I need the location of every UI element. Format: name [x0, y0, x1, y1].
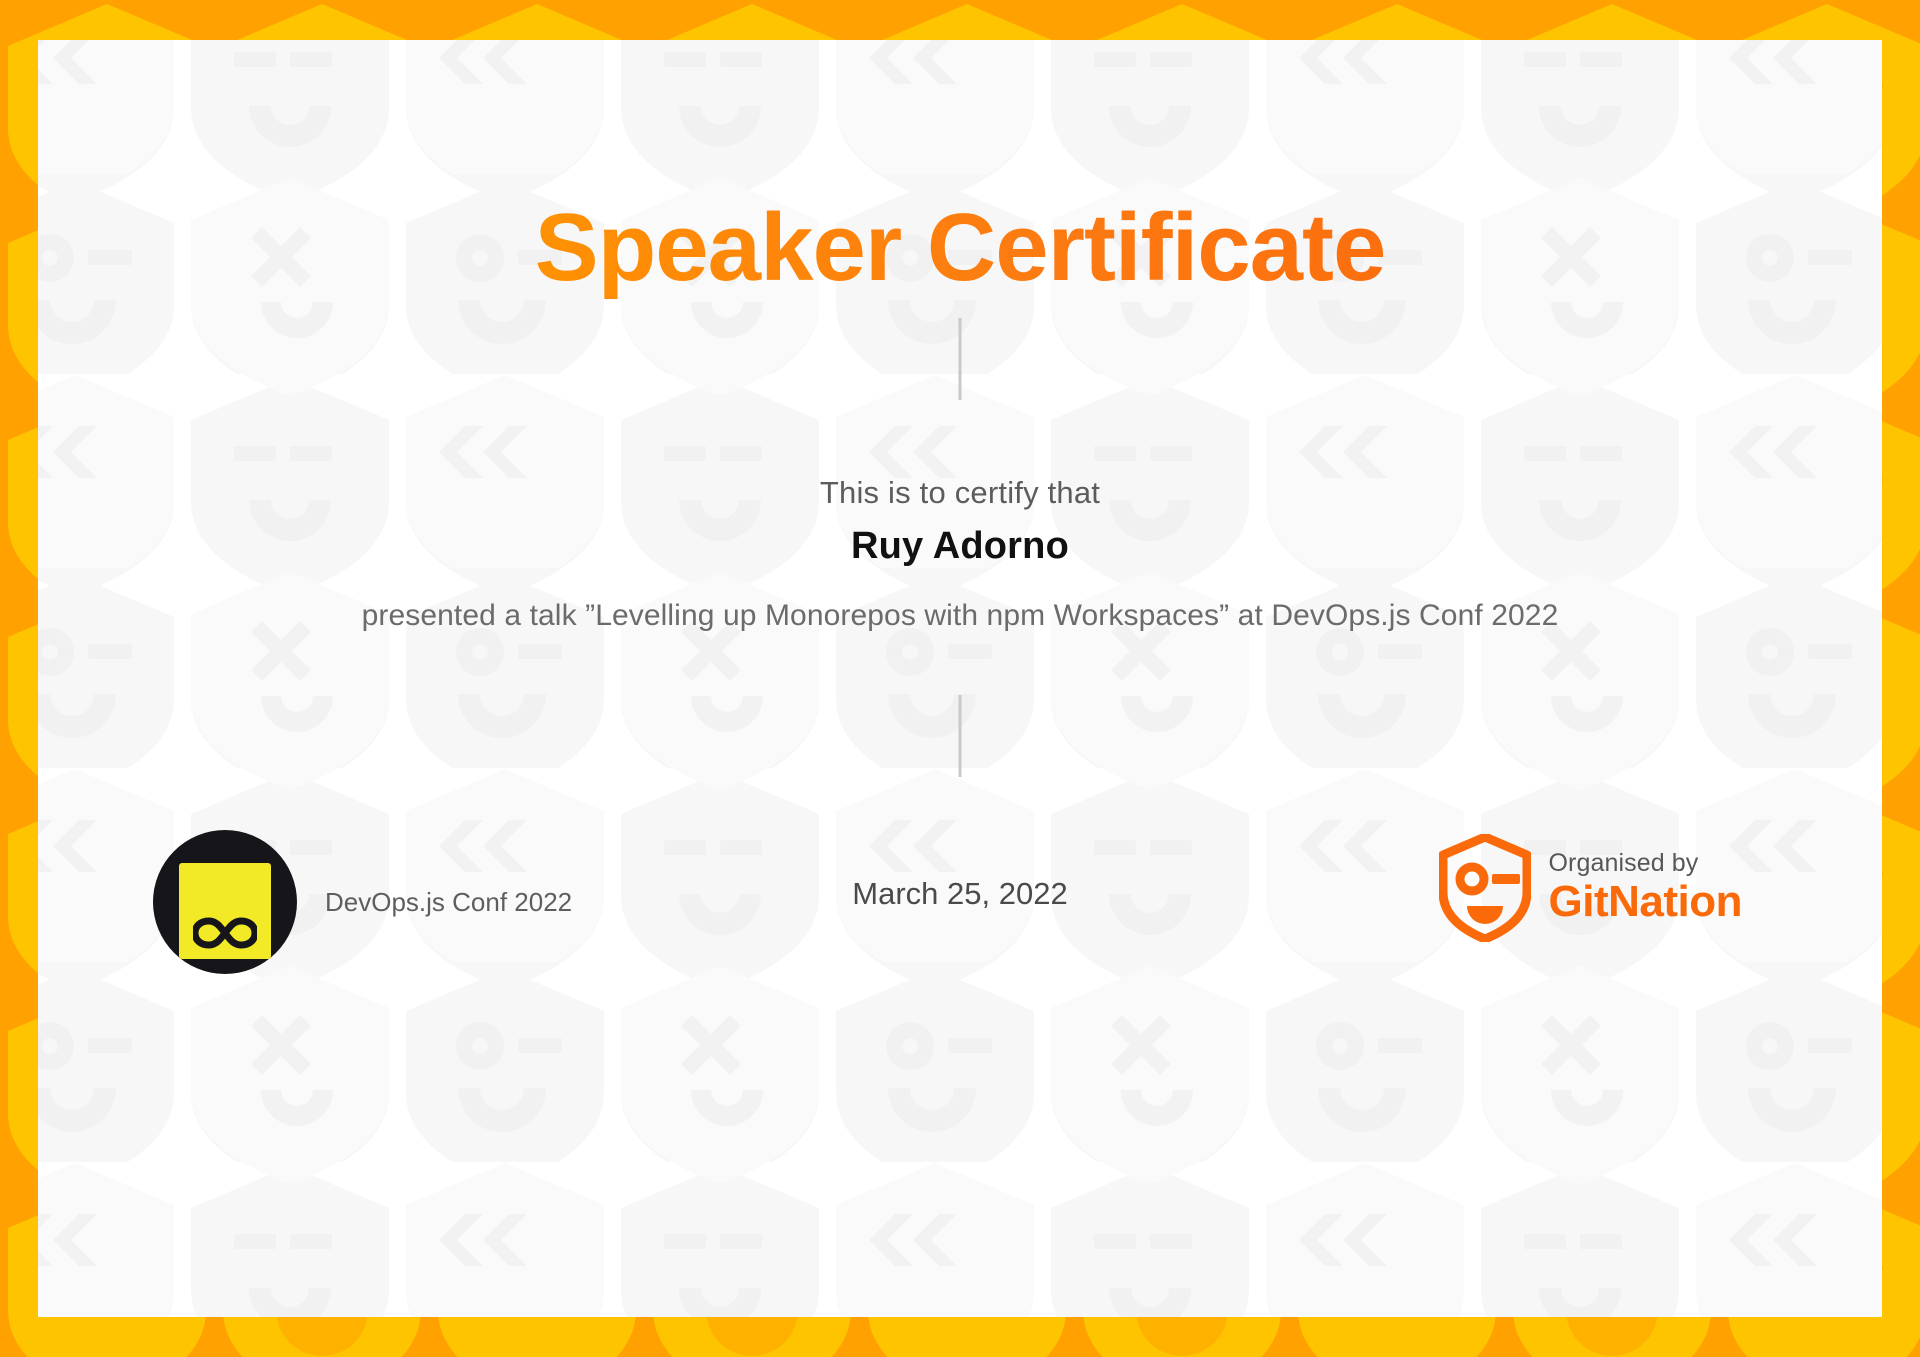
- organised-by-label: Organised by: [1549, 849, 1742, 877]
- organiser-name: GitNation: [1549, 877, 1742, 926]
- divider-bottom: [959, 695, 962, 777]
- organiser-block: Organised by GitNation: [1439, 834, 1742, 942]
- gitnation-shield-face-icon: [1439, 834, 1531, 942]
- page-title: Speaker Certificate: [38, 198, 1882, 299]
- certificate-footer: DevOps.js Conf 2022 March 25, 2022 Organ…: [38, 830, 1882, 990]
- talk-description: presented a talk ”Levelling up Monorepos…: [238, 595, 1682, 636]
- certificate-card: Speaker Certificate This is to certify t…: [38, 40, 1882, 1317]
- divider-top: [959, 318, 962, 400]
- recipient-name: Ruy Adorno: [38, 525, 1882, 568]
- certificate-frame: Speaker Certificate This is to certify t…: [0, 0, 1920, 1357]
- certify-line: This is to certify that: [38, 475, 1882, 511]
